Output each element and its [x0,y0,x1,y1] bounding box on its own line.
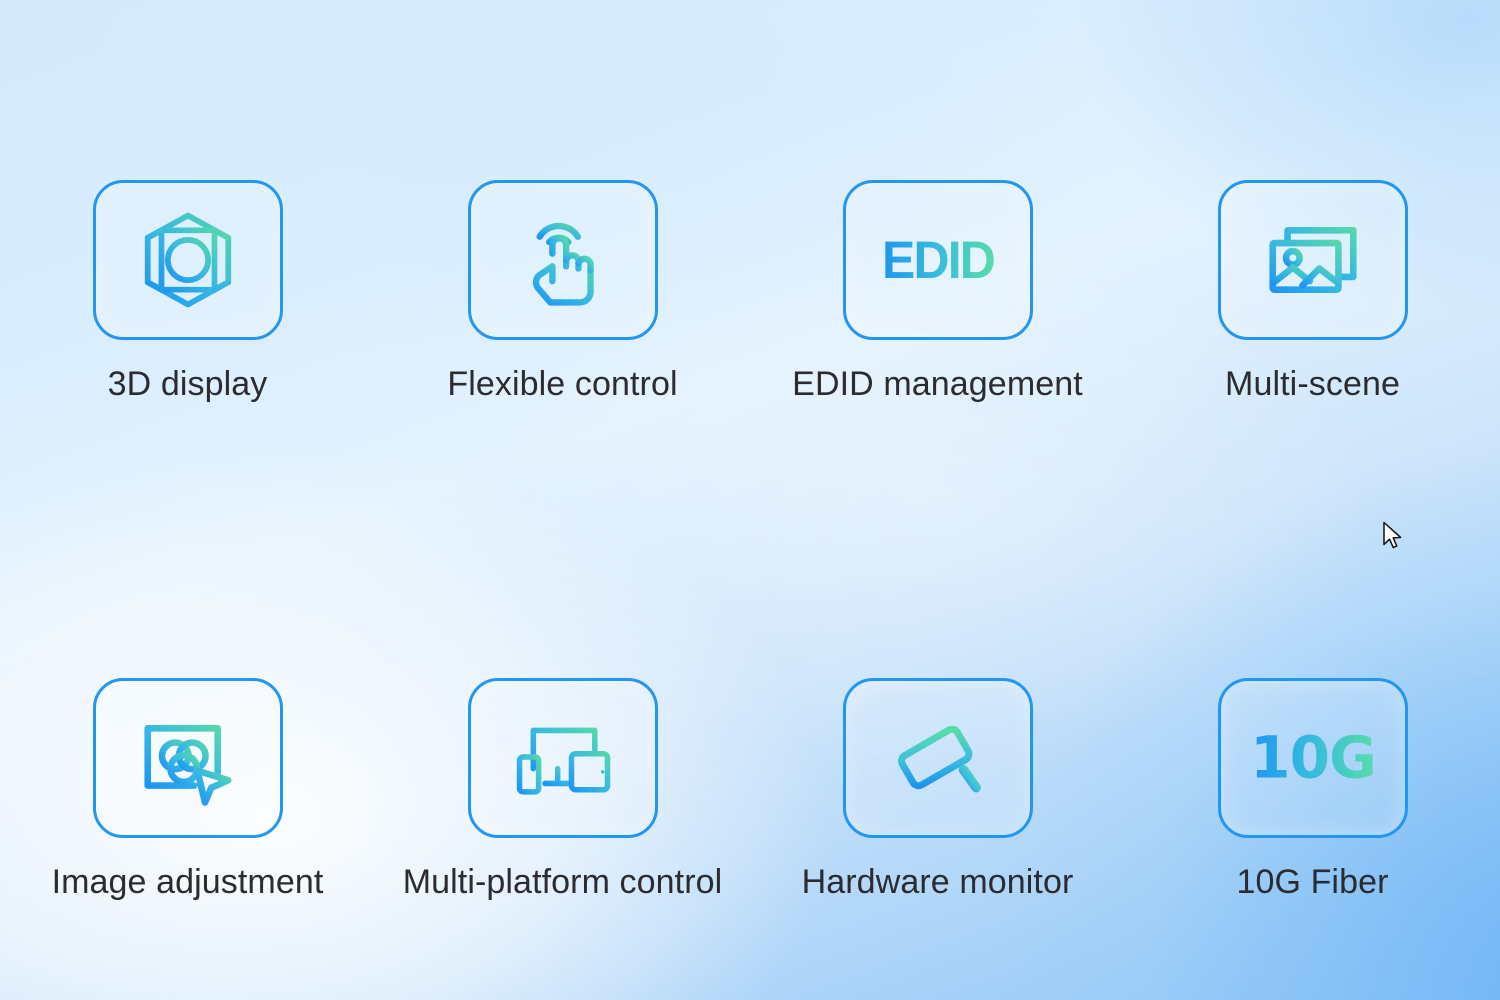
teng-glyph-text: 10G [1250,724,1376,792]
icon-card-multi-scene[interactable] [1218,180,1408,340]
icon-card-10g-fiber[interactable]: 10G [1218,678,1408,838]
icon-card-hardware-monitor[interactable] [843,678,1033,838]
edid-text-icon: EDID [863,225,1013,295]
cube-sphere-icon [135,207,241,313]
feature-cell-flexible-control[interactable]: Flexible control [375,180,750,403]
feature-label-multi-platform-control: Multi-platform control [403,864,723,901]
feature-cell-hardware-monitor[interactable]: Hardware monitor [750,678,1125,901]
feature-grid-page: 3D display Flexible control [0,0,1500,1000]
feature-label-10g-fiber: 10G Fiber [1236,864,1388,901]
multi-device-icon [510,705,616,811]
feature-label-hardware-monitor: Hardware monitor [802,864,1074,901]
icon-card-edid-management[interactable]: EDID [843,180,1033,340]
feature-label-3d-display: 3D display [108,366,268,403]
icon-card-3d-display[interactable] [93,180,283,340]
feature-cell-3d-display[interactable]: 3D display [0,180,375,403]
feature-cell-multi-platform-control[interactable]: Multi-platform control [375,678,750,901]
feature-cell-image-adjustment[interactable]: Image adjustment [0,678,375,901]
feature-label-multi-scene: Multi-scene [1225,366,1400,403]
teng-glyph-wrap: 10G [1221,723,1405,793]
feature-cell-multi-scene[interactable]: Multi-scene [1125,180,1500,403]
feature-cell-edid-management[interactable]: EDID EDID management [750,180,1125,403]
feature-cell-10g-fiber[interactable]: 10G 10G Fiber [1125,678,1500,901]
icon-card-multi-platform-control[interactable] [468,678,658,838]
hand-tap-icon [510,207,616,313]
tenG-text-icon: 10G [1238,723,1388,793]
feature-label-image-adjustment: Image adjustment [52,864,324,901]
security-camera-icon [885,705,991,811]
stacked-photos-icon [1260,207,1366,313]
feature-label-flexible-control: Flexible control [447,366,677,403]
icon-card-image-adjustment[interactable] [93,678,283,838]
feature-grid: 3D display Flexible control [0,0,1500,1000]
edid-glyph-wrap: EDID [846,225,1030,295]
edid-glyph-text: EDID [882,231,994,289]
icon-card-flexible-control[interactable] [468,180,658,340]
color-wheels-cursor-icon [135,705,241,811]
feature-label-edid-management: EDID management [792,366,1083,403]
